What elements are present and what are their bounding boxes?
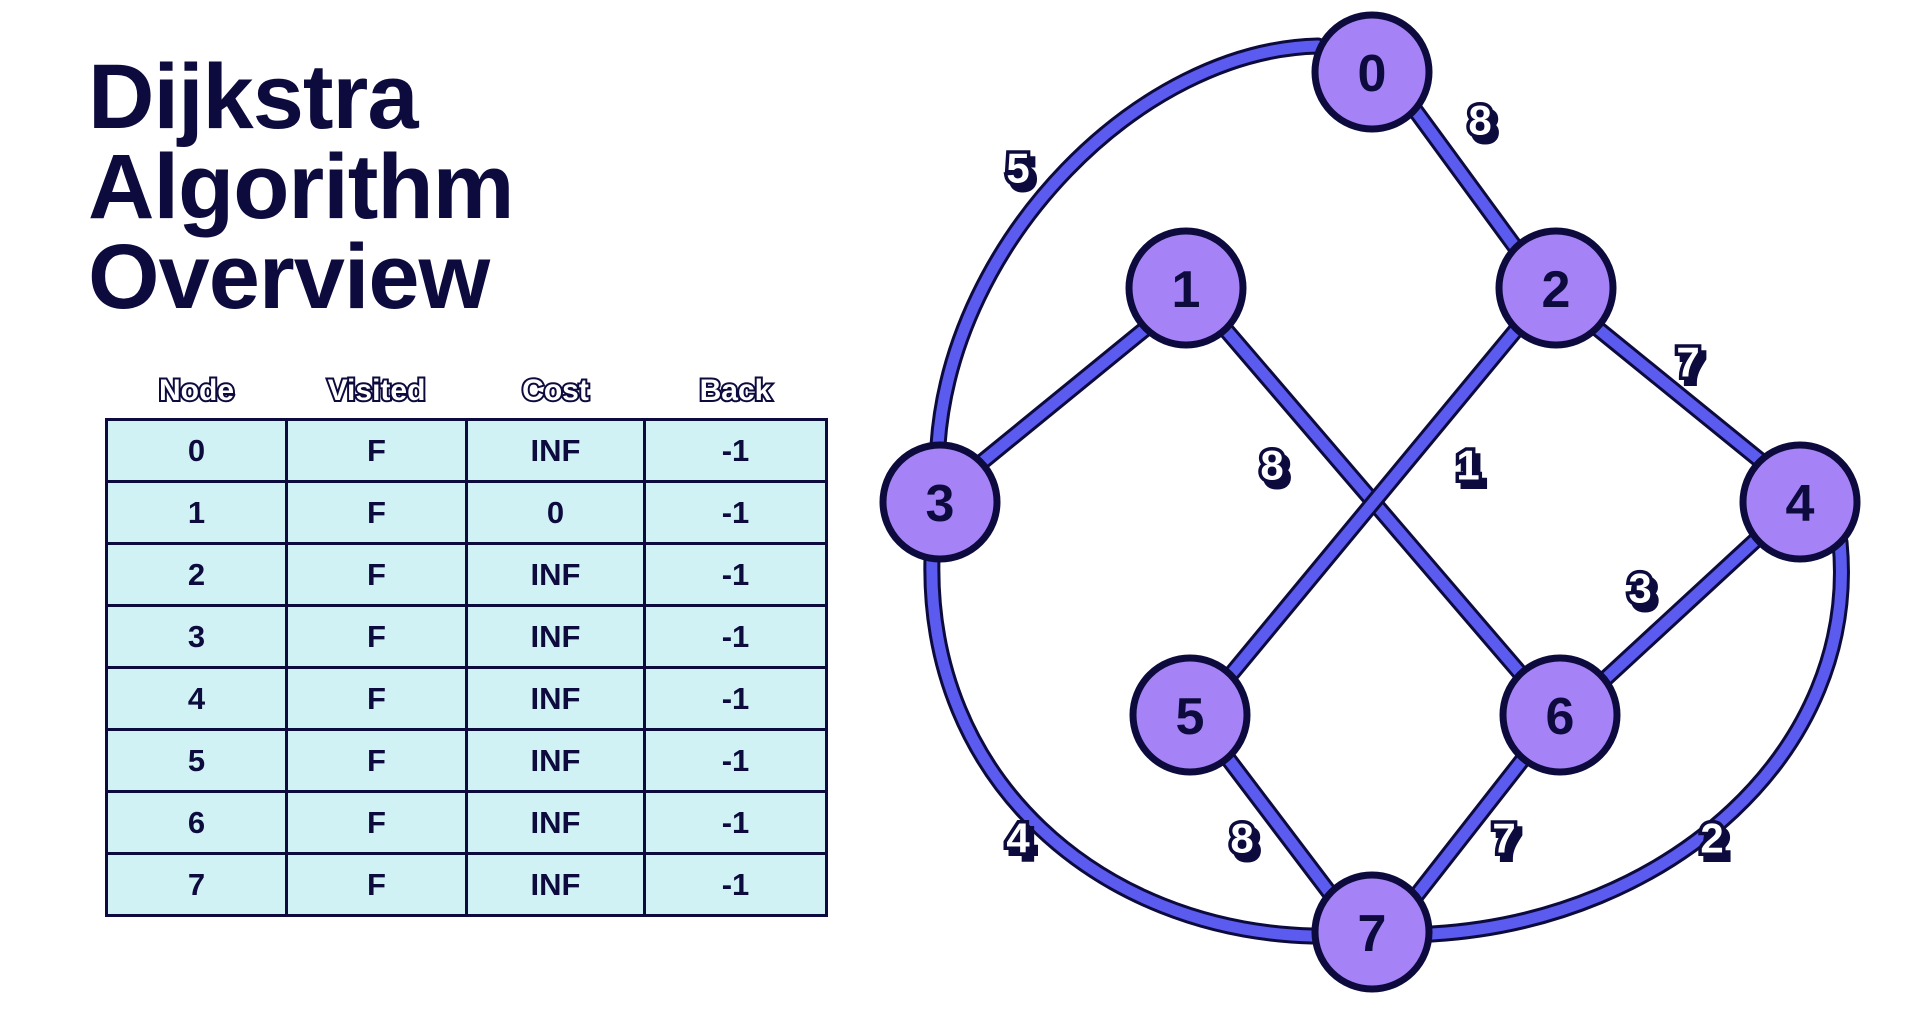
node-label: 6	[1546, 688, 1575, 746]
node-label: 5	[1176, 688, 1205, 746]
table-row: 1F0-1	[107, 482, 827, 544]
edge-weight-label: 2	[1700, 815, 1723, 862]
cell-back: -1	[645, 668, 827, 730]
cell-node: 1	[107, 482, 287, 544]
graph-edge-4-6	[1604, 538, 1758, 680]
cell-cost: INF	[467, 420, 645, 482]
edge-core	[1604, 538, 1758, 680]
edge-weight-label: 8	[1230, 815, 1253, 862]
edge-core	[1415, 110, 1516, 248]
edge-weight-label: 4	[1006, 815, 1030, 862]
cell-node: 0	[107, 420, 287, 482]
cell-back: -1	[645, 482, 827, 544]
table-row: 0FINF-1	[107, 420, 827, 482]
column-header-visited: Visited	[287, 372, 467, 420]
graph-node-0[interactable]: 0	[1315, 15, 1429, 129]
table-row: 7FINF-1	[107, 854, 827, 916]
edge-weight-0-3: 55	[1006, 145, 1034, 198]
graph-edge-0-3	[938, 46, 1318, 445]
left-panel: Dijkstra Algorithm Overview Node Visited…	[0, 0, 880, 1000]
edge-weight-3-7: 44	[1006, 815, 1035, 868]
cell-node: 4	[107, 668, 287, 730]
cell-cost: INF	[467, 668, 645, 730]
edge-weight-6-7: 77	[1492, 815, 1520, 868]
cell-visited: F	[287, 668, 467, 730]
node-label: 3	[926, 475, 955, 533]
node-label: 1	[1172, 261, 1201, 319]
cell-cost: 0	[467, 482, 645, 544]
graph-diagram: 01234567 55881188773322448877	[840, 0, 1920, 1010]
cell-visited: F	[287, 544, 467, 606]
table-row: 6FINF-1	[107, 792, 827, 854]
edge-outline	[938, 46, 1318, 445]
edge-weight-1-6: 11	[1456, 442, 1484, 495]
graph-node-1[interactable]: 1	[1129, 231, 1243, 345]
cell-back: -1	[645, 544, 827, 606]
graph-edge-0-2	[1415, 110, 1516, 248]
edge-weight-label: 1	[1456, 442, 1479, 489]
cell-node: 3	[107, 606, 287, 668]
edge-weight-label: 8	[1468, 97, 1491, 144]
cell-visited: F	[287, 482, 467, 544]
page-title-line-1: Dijkstra Algorithm	[88, 52, 848, 232]
edge-core	[938, 46, 1318, 445]
graph-edge-1-3	[982, 329, 1145, 462]
table-row: 5FINF-1	[107, 730, 827, 792]
edge-weight-4-7: 22	[1700, 815, 1728, 868]
graph-panel: 01234567 55881188773322448877	[840, 0, 1920, 1010]
graph-node-4[interactable]: 4	[1743, 445, 1857, 559]
cell-visited: F	[287, 854, 467, 916]
column-header-node: Node	[107, 372, 287, 420]
edge-weight-label: 7	[1676, 339, 1699, 386]
edge-weight-0-2: 88	[1468, 97, 1496, 150]
node-label: 4	[1786, 475, 1815, 533]
cell-node: 5	[107, 730, 287, 792]
cell-visited: F	[287, 792, 467, 854]
edge-weight-5-7: 88	[1230, 815, 1258, 868]
page-title-line-2: Overview	[88, 232, 848, 322]
table-body: 0FINF-11F0-12FINF-13FINF-14FINF-15FINF-1…	[107, 420, 827, 916]
node-label: 0	[1358, 45, 1387, 103]
edges-layer	[932, 46, 1842, 936]
cell-back: -1	[645, 792, 827, 854]
edge-weights-layer: 55881188773322448877	[1006, 97, 1728, 868]
cell-node: 7	[107, 854, 287, 916]
table-header-row: Node Visited Cost Back	[107, 372, 827, 420]
graph-node-7[interactable]: 7	[1315, 875, 1429, 989]
edge-weight-label: 8	[1260, 442, 1283, 489]
cell-cost: INF	[467, 730, 645, 792]
edge-weight-4-6: 33	[1628, 565, 1656, 618]
cell-cost: INF	[467, 854, 645, 916]
slide-root: Dijkstra Algorithm Overview Node Visited…	[0, 0, 1920, 1000]
column-header-back: Back	[645, 372, 827, 420]
edge-core	[982, 329, 1145, 462]
cell-cost: INF	[467, 544, 645, 606]
table-row: 2FINF-1	[107, 544, 827, 606]
dijkstra-state-table: Node Visited Cost Back 0FINF-11F0-12FINF…	[105, 372, 828, 917]
cell-cost: INF	[467, 606, 645, 668]
cell-back: -1	[645, 420, 827, 482]
cell-back: -1	[645, 730, 827, 792]
edge-weight-label: 7	[1492, 815, 1515, 862]
column-header-cost: Cost	[467, 372, 645, 420]
graph-node-5[interactable]: 5	[1133, 658, 1247, 772]
edge-weight-2-5: 88	[1260, 442, 1288, 495]
cell-back: -1	[645, 854, 827, 916]
cell-visited: F	[287, 420, 467, 482]
cell-back: -1	[645, 606, 827, 668]
cell-visited: F	[287, 730, 467, 792]
edge-weight-label: 5	[1006, 145, 1029, 192]
graph-node-2[interactable]: 2	[1499, 231, 1613, 345]
cell-cost: INF	[467, 792, 645, 854]
edge-weight-label: 3	[1628, 565, 1651, 612]
graph-edge-3-7	[932, 558, 1312, 936]
table-row: 4FINF-1	[107, 668, 827, 730]
edge-outline	[932, 558, 1312, 936]
graph-node-3[interactable]: 3	[883, 445, 997, 559]
page-title: Dijkstra Algorithm Overview	[88, 52, 848, 322]
table-row: 3FINF-1	[107, 606, 827, 668]
cell-visited: F	[287, 606, 467, 668]
cell-node: 2	[107, 544, 287, 606]
node-label: 7	[1358, 905, 1387, 963]
cell-node: 6	[107, 792, 287, 854]
node-label: 2	[1542, 261, 1571, 319]
edge-weight-2-4: 77	[1676, 339, 1704, 392]
graph-node-6[interactable]: 6	[1503, 658, 1617, 772]
